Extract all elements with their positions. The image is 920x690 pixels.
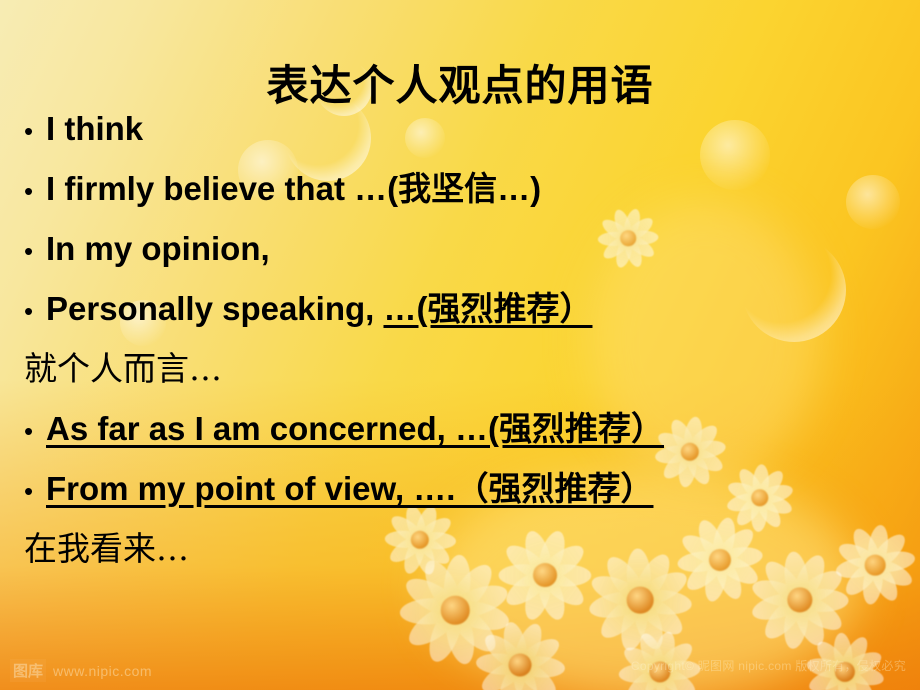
daisy-core [509,654,532,677]
bullet-text-underlined: …(强烈推荐） [383,290,592,327]
daisy-flower [470,615,570,690]
daisy-petal [423,602,469,666]
daisy-petal [509,660,541,690]
watermark-logo: 图库 [10,659,46,682]
bullet-text-plain: 在我看来… [24,529,189,568]
watermark-nipic: 图库 www.nipic.com [10,659,152,682]
bullet-text-underlined: From my point of view, ….（强烈推荐） [46,470,653,507]
bullet-marker-icon: • [16,478,46,504]
daisy-petal [494,658,531,690]
daisy-petal [511,655,561,690]
bullet-text: As far as I am concerned, …(强烈推荐） [46,412,664,445]
daisy-petal [627,593,668,653]
bullet-text-underlined: As far as I am concerned, …(强烈推荐） [46,410,664,447]
bullet-list: •I think•I firmly believe that …(我坚信…)•I… [16,112,906,592]
bullet-line: 在我看来… [16,532,906,592]
daisy-petal [442,604,479,667]
daisy-petal [443,598,503,658]
bullet-text: I think [46,112,143,145]
daisy-petal [477,655,528,690]
presentation-slide: 表达个人观点的用语 •I think•I firmly believe that… [0,0,920,690]
daisy-petal [509,620,546,672]
bullet-line: •From my point of view, ….（强烈推荐） [16,472,906,532]
daisy-petal [475,651,524,675]
bullet-text-plain: Personally speaking, [46,290,383,327]
bullet-marker-icon: • [16,178,46,204]
daisy-petal [781,595,812,650]
daisy-petal [399,597,459,626]
watermark-url: www.nipic.com [53,663,152,679]
bullet-text: Personally speaking, …(强烈推荐） [46,292,592,325]
bullet-marker-icon: • [16,118,46,144]
daisy-petal [479,628,529,675]
daisy-petal [630,588,688,641]
daisy-petal [791,589,847,637]
bullet-line: •I firmly believe that …(我坚信…) [16,172,906,232]
daisy-petal [403,597,466,653]
daisy-petal [587,587,646,621]
bullet-marker-icon: • [16,238,46,264]
daisy-petal [516,654,565,678]
bullet-text-plain: 就个人而言… [24,349,222,388]
bullet-text: I firmly believe that …(我坚信…) [46,172,541,205]
bullet-text: In my opinion, [46,232,270,265]
bullet-line: •In my opinion, [16,232,906,292]
bullet-line: •I think [16,112,906,172]
bullet-text: 在我看来… [24,532,189,565]
bullet-text-plain: I think [46,110,143,147]
bullet-marker-icon: • [16,418,46,444]
daisy-petal [499,619,531,670]
daisy-petal [448,596,511,635]
daisy-petal [512,633,563,676]
daisy-petal [594,589,651,645]
bullet-text: From my point of view, ….（强烈推荐） [46,472,653,505]
bullet-line: 就个人而言… [16,352,906,412]
bullet-text: 就个人而言… [24,352,222,385]
daisy-petal [759,590,811,644]
bullet-line: •Personally speaking, …(强烈推荐） [16,292,906,352]
watermark-copyright: Copyright© 昵图网 nipic.com 版权所有，侵权必究 [631,657,906,674]
daisy-petal [788,592,830,649]
daisy-core [441,596,470,625]
slide-title: 表达个人观点的用语 [0,64,920,108]
bullet-marker-icon: • [16,298,46,324]
bullet-line: •As far as I am concerned, …(强烈推荐） [16,412,906,472]
bullet-text-plain: In my opinion, [46,230,270,267]
daisy-petal [616,594,653,653]
bullet-text-plain: I firmly believe that …(我坚信…) [46,170,541,207]
daisy-petal [750,588,807,625]
